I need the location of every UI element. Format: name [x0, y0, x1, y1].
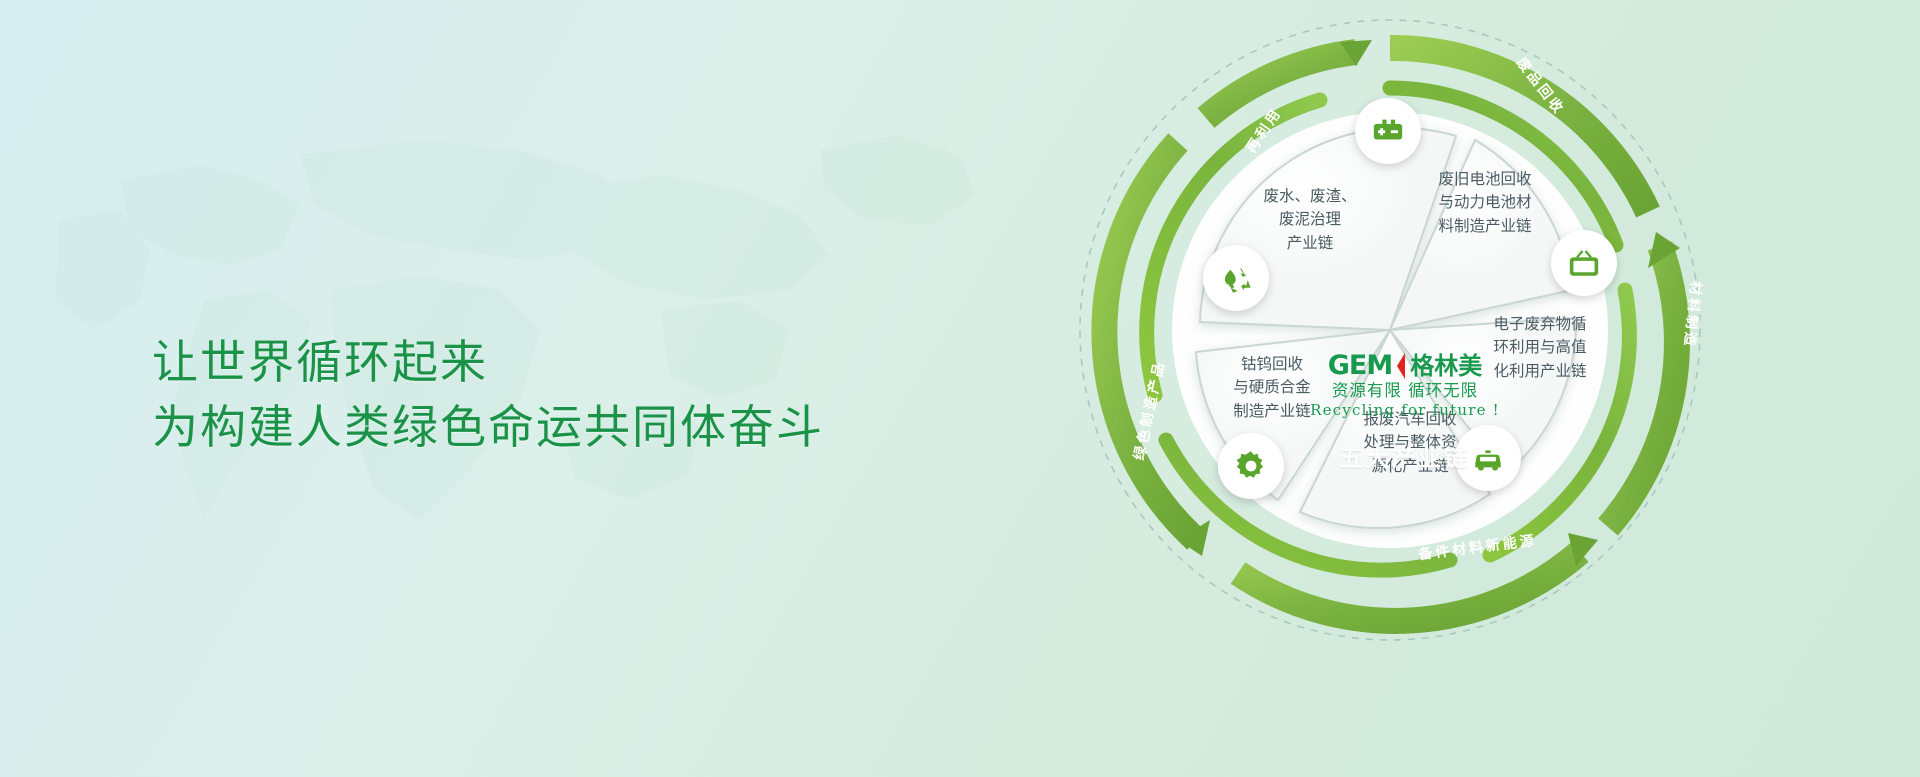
gear-icon-bubble[interactable]	[1218, 433, 1284, 499]
gem-triangle-icon	[1397, 353, 1405, 379]
television-icon-bubble[interactable]	[1551, 230, 1617, 296]
page-title: 让世界循环起来 为构建人类绿色命运共同体奋斗	[152, 330, 824, 461]
gem-wordmark: GEM	[1328, 352, 1392, 379]
television-icon	[1567, 246, 1601, 280]
segment-label-battery: 废旧电池回收 与动力电池材 料制造产业链	[1420, 168, 1550, 238]
headline-line-1: 让世界循环起来	[152, 330, 824, 395]
battery-icon	[1371, 114, 1405, 148]
gear-icon	[1233, 448, 1269, 484]
gem-logo-row: GEM 格林美	[1300, 352, 1510, 379]
gem-slogan-cn: 资源有限 循环无限	[1300, 383, 1510, 400]
headline-line-2: 为构建人类绿色命运共同体奋斗	[152, 395, 824, 460]
recycle-water-icon	[1218, 260, 1254, 296]
gem-slogan-en: Recycling for future !	[1300, 403, 1510, 418]
gem-chinese-name: 格林美	[1410, 354, 1482, 378]
segment-label-water: 废水、废渣、 废泥治理 产业链	[1245, 185, 1375, 255]
battery-icon-bubble[interactable]	[1355, 98, 1421, 164]
gem-brand-logo: GEM 格林美 资源有限 循环无限 Recycling for future !…	[1300, 352, 1510, 471]
recycle-water-icon-bubble[interactable]	[1203, 245, 1269, 311]
gem-center-caption: 五大产业链	[1300, 448, 1510, 471]
